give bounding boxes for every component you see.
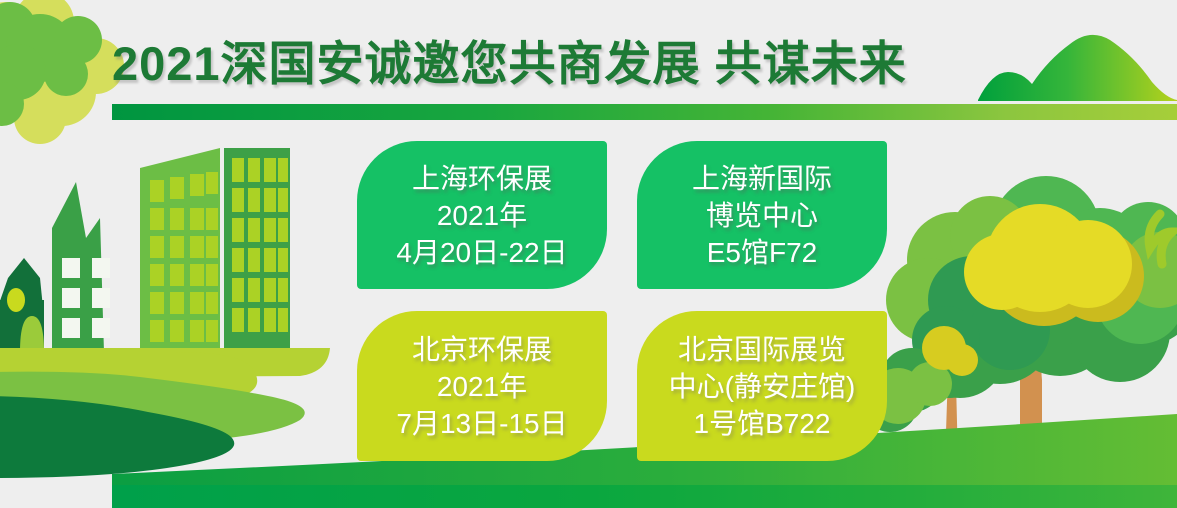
card-line: 2021年 — [437, 368, 527, 405]
page-title: 2021深国安诚邀您共商发展 共谋未来 — [112, 34, 952, 102]
card-line: 博览中心 — [706, 197, 818, 234]
house-icon — [0, 258, 44, 352]
event-banner: 2021深国安诚邀您共商发展 共谋未来 上海环保展 2021年 4月20日-22… — [0, 0, 1177, 508]
tree-canopy-icon — [0, 0, 124, 144]
card-line: 上海环保展 — [412, 160, 552, 197]
mountain-icon — [978, 35, 1177, 101]
card-line: 中心(静安庄馆) — [669, 368, 856, 405]
card-line: 1号馆B722 — [694, 405, 831, 442]
beijing-venue-card[interactable]: 北京国际展览 中心(静安庄馆) 1号馆B722 — [637, 311, 887, 461]
banner-title-text: 2021深国安诚邀您共商发展 共谋未来 — [112, 34, 952, 94]
event-info-card-grid: 上海环保展 2021年 4月20日-22日 上海新国际 博览中心 E5馆F72 … — [357, 141, 887, 461]
hills-icon — [0, 348, 330, 478]
card-line: 7月13日-15日 — [396, 405, 567, 442]
card-line: 4月20日-22日 — [396, 234, 567, 271]
card-line: E5馆F72 — [707, 234, 818, 271]
shanghai-venue-card[interactable]: 上海新国际 博览中心 E5馆F72 — [637, 141, 887, 289]
title-divider-bar — [112, 104, 1177, 120]
beijing-expo-date-card[interactable]: 北京环保展 2021年 7月13日-15日 — [357, 311, 607, 461]
card-line: 北京国际展览 — [678, 331, 846, 368]
card-line: 2021年 — [437, 197, 527, 234]
shanghai-expo-date-card[interactable]: 上海环保展 2021年 4月20日-22日 — [357, 141, 607, 289]
city-skyline-icon — [52, 148, 290, 352]
card-line: 上海新国际 — [692, 160, 832, 197]
card-line: 北京环保展 — [412, 331, 552, 368]
bottom-divider-bar — [112, 485, 1177, 508]
